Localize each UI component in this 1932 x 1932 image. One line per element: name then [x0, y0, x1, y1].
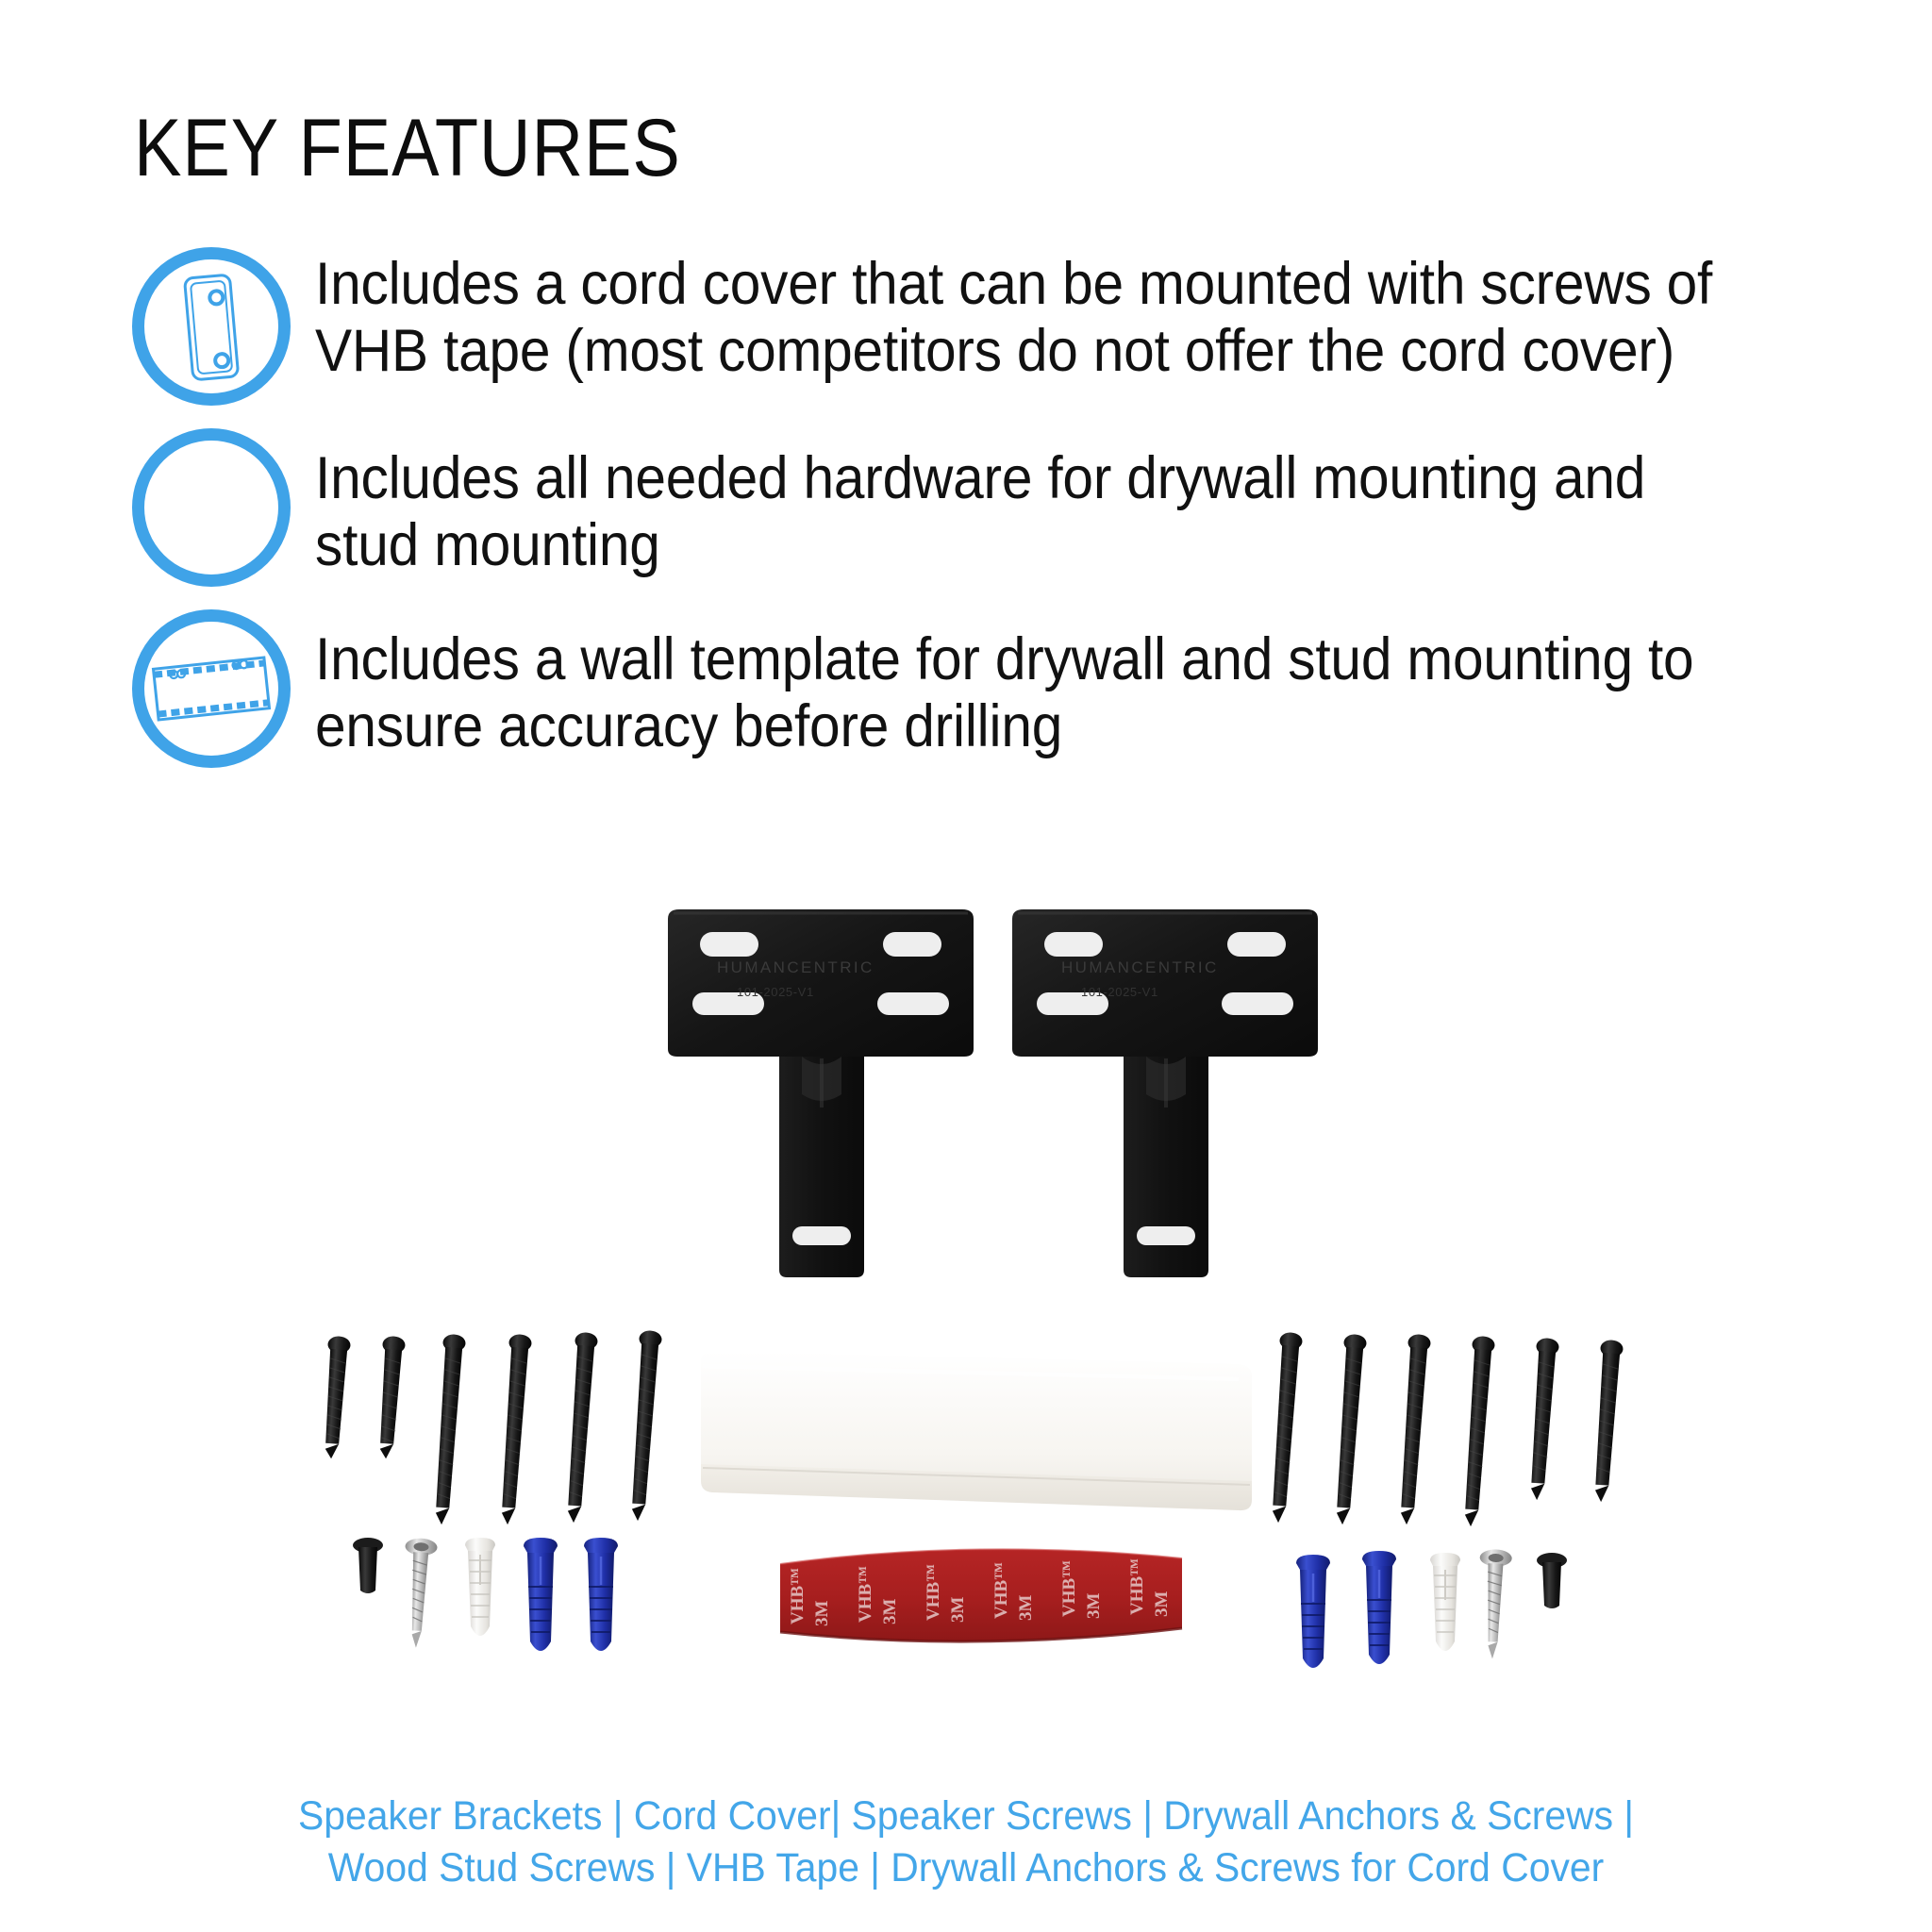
blue-anchor — [584, 1538, 618, 1651]
svg-text:3M: 3M — [880, 1599, 900, 1625]
speaker-screws-right — [1269, 1330, 1665, 1566]
white-anchor — [1430, 1553, 1460, 1651]
cord-cover-part — [693, 1349, 1269, 1566]
feature-item: Includes a cord cover that can be mounte… — [132, 247, 1821, 406]
feature-text: Includes all needed hardware for drywall… — [315, 426, 1715, 579]
speaker-bracket: HUMANCENTRIC 101-2025-V1 — [1005, 906, 1325, 1288]
caption: Speaker Brackets | Cord Cover| Speaker S… — [48, 1790, 1884, 1894]
svg-text:VHB™: VHB™ — [788, 1568, 808, 1624]
svg-text:3M: 3M — [1152, 1591, 1172, 1618]
svg-text:3M: 3M — [948, 1597, 968, 1624]
feature-item: Includes a wall template for drywall and… — [132, 608, 1821, 768]
feature-list: Includes a cord cover that can be mounte… — [132, 247, 1821, 789]
speaker-bracket: HUMANCENTRIC 101-2025-V1 — [660, 906, 981, 1288]
bracket-part-number: 101-2025-V1 — [737, 985, 814, 999]
feature-item: Includes all needed hardware for drywall… — [132, 426, 1821, 587]
hardware-circle-icon — [132, 428, 291, 587]
wall-template-icon — [132, 609, 291, 768]
svg-text:3M: 3M — [1084, 1593, 1104, 1620]
vhb-tape: VHB™ 3M VHB™ 3M VHB™ 3M VHB™ 3M VHB™ 3M … — [769, 1538, 1193, 1656]
caption-line-1: Speaker Brackets | Cord Cover| Speaker S… — [48, 1790, 1884, 1842]
caption-line-2: Wood Stud Screws | VHB Tape | Drywall An… — [48, 1842, 1884, 1894]
blue-anchor — [524, 1538, 558, 1651]
white-anchor — [465, 1538, 495, 1636]
silver-screw — [1476, 1549, 1512, 1659]
black-stub-screw — [353, 1538, 383, 1593]
cord-cover-icon — [132, 247, 291, 406]
bracket-part-number: 101-2025-V1 — [1081, 985, 1158, 999]
feature-text: Includes a wall template for drywall and… — [315, 608, 1715, 760]
silver-screw — [400, 1538, 438, 1649]
bracket-brand-label: HUMANCENTRIC — [1061, 958, 1219, 977]
svg-text:3M: 3M — [1016, 1595, 1036, 1622]
svg-text:VHB™: VHB™ — [1059, 1560, 1079, 1617]
product-feature-page: KEY FEATURES Includes a cord cover that … — [0, 0, 1932, 1932]
blue-anchor — [1362, 1551, 1396, 1664]
bracket-brand-label: HUMANCENTRIC — [717, 958, 874, 977]
svg-text:3M: 3M — [812, 1601, 832, 1627]
page-title: KEY FEATURES — [134, 102, 681, 195]
black-stub-screw — [1537, 1553, 1567, 1608]
blue-anchor — [1296, 1555, 1330, 1668]
product-photo-group: HUMANCENTRIC 101-2025-V1 HUMANCENTRIC 10… — [0, 877, 1932, 1755]
svg-text:VHB™: VHB™ — [1127, 1558, 1147, 1615]
feature-text: Includes a cord cover that can be mounte… — [315, 247, 1715, 385]
small-hardware-right — [1283, 1538, 1604, 1689]
small-hardware-left — [335, 1528, 646, 1670]
svg-text:VHB™: VHB™ — [991, 1562, 1011, 1619]
svg-text:VHB™: VHB™ — [924, 1564, 943, 1621]
svg-text:VHB™: VHB™ — [856, 1566, 875, 1623]
